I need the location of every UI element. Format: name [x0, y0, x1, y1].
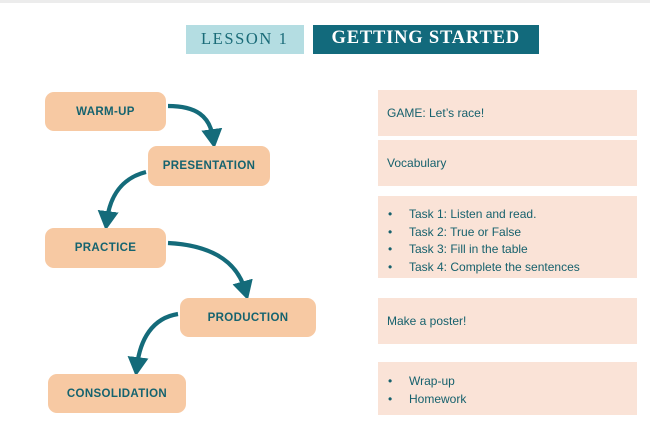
activity-block-poster[interactable]: Make a poster! [378, 298, 637, 344]
arrow-production-to-consolidation [137, 314, 178, 366]
task-list: • Task 1: Listen and read. • Task 2: Tru… [378, 196, 637, 276]
bullet-icon: • [388, 373, 392, 391]
lesson-stage-flowchart: WARM-UP PRESENTATION PRACTICE PRODUCTION… [0, 0, 360, 427]
list-item-label: Task 3: Fill in the table [409, 242, 528, 256]
bullet-icon: • [388, 391, 392, 409]
activity-text: Make a poster! [387, 314, 466, 328]
stage-box-presentation[interactable]: PRESENTATION [148, 146, 270, 186]
activity-block-game[interactable]: GAME: Let’s race! [378, 90, 637, 136]
bullet-icon: • [388, 259, 392, 277]
list-item-label: Task 2: True or False [409, 225, 521, 239]
list-item-label: Wrap-up [409, 374, 455, 388]
flow-arrows [0, 0, 360, 427]
bullet-icon: • [388, 206, 392, 224]
stage-box-practice[interactable]: PRACTICE [45, 228, 166, 268]
activity-block-tasks[interactable]: • Task 1: Listen and read. • Task 2: Tru… [378, 196, 637, 278]
list-item[interactable]: • Task 4: Complete the sentences [388, 259, 637, 277]
list-item[interactable]: • Task 1: Listen and read. [388, 206, 637, 224]
list-item-label: Task 1: Listen and read. [409, 207, 536, 221]
bullet-icon: • [388, 224, 392, 242]
arrow-warmup-to-presentation [168, 106, 213, 138]
list-item-label: Homework [409, 392, 466, 406]
list-item[interactable]: • Homework [388, 391, 637, 409]
list-item[interactable]: • Task 3: Fill in the table [388, 241, 637, 259]
list-item-label: Task 4: Complete the sentences [409, 260, 580, 274]
activity-text: GAME: Let’s race! [387, 106, 484, 120]
activity-text: Vocabulary [387, 156, 446, 170]
arrow-practice-to-production [168, 243, 245, 290]
arrow-presentation-to-practice [107, 172, 146, 220]
activity-content-panel: GAME: Let’s race! Vocabulary • Task 1: L… [378, 0, 637, 427]
consolidation-list: • Wrap-up • Homework [378, 362, 637, 408]
list-item[interactable]: • Task 2: True or False [388, 224, 637, 242]
stage-box-warm-up[interactable]: WARM-UP [45, 92, 166, 131]
stage-box-consolidation[interactable]: CONSOLIDATION [48, 374, 186, 413]
activity-block-vocabulary[interactable]: Vocabulary [378, 140, 637, 186]
bullet-icon: • [388, 241, 392, 259]
stage-box-production[interactable]: PRODUCTION [180, 298, 316, 337]
activity-block-consolidation[interactable]: • Wrap-up • Homework [378, 362, 637, 415]
list-item[interactable]: • Wrap-up [388, 373, 637, 391]
